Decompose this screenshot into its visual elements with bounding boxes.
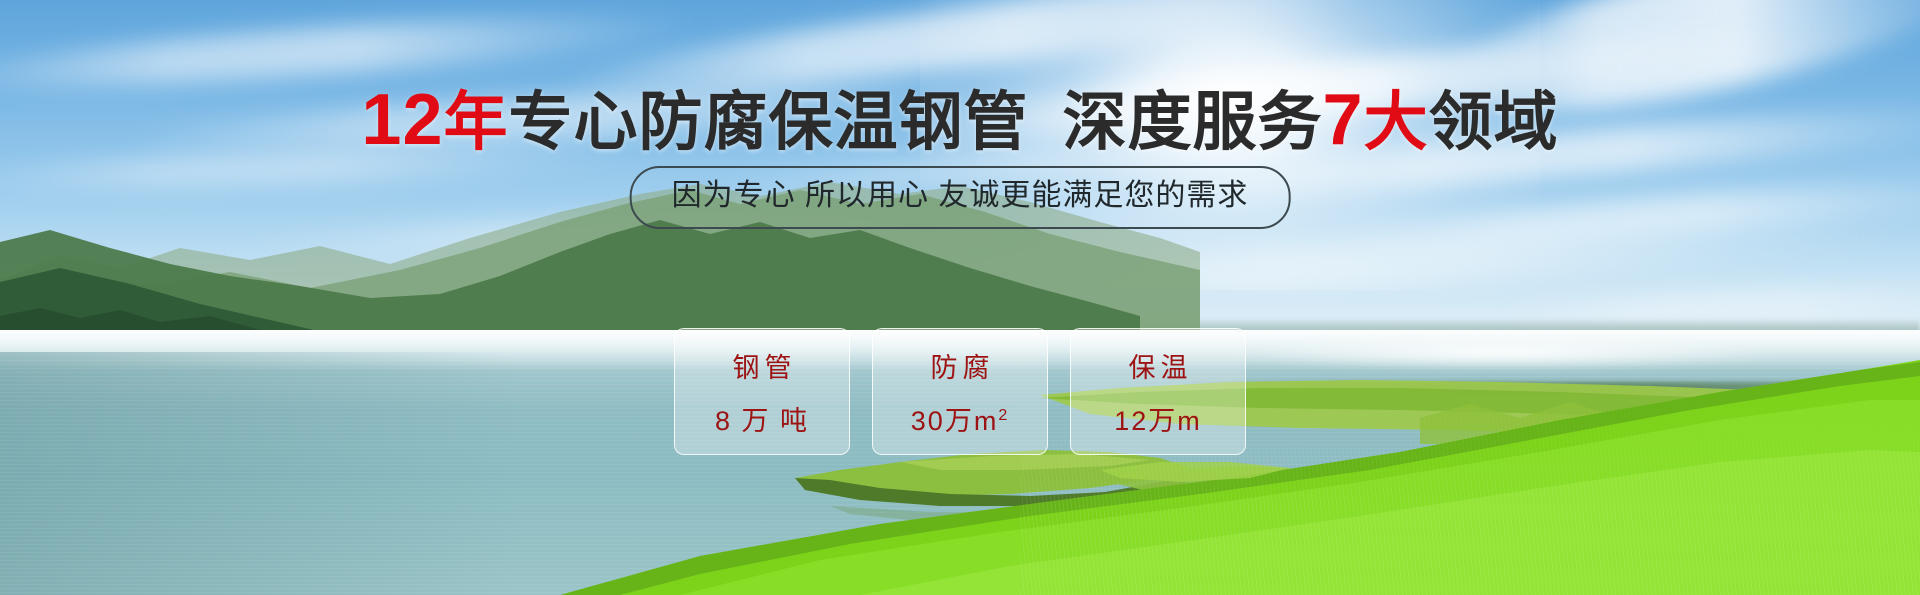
stat-card-value: 30万m2	[911, 399, 1009, 438]
headline-fields-measure: 大	[1364, 86, 1429, 158]
headline-fields-suffix: 领域	[1429, 86, 1559, 158]
stat-card-value: 12万m	[1114, 399, 1202, 438]
hero-banner: 12年专心防腐保温钢管深度服务7大领域 因为专心 所以用心 友诚更能满足您的需求…	[0, 0, 1920, 595]
headline-years-unit: 年	[444, 86, 509, 158]
stat-card-label: 防腐	[926, 346, 995, 385]
stat-card-label: 保温	[1124, 346, 1193, 385]
stat-card-value-main: 12万m	[1114, 406, 1202, 436]
headline-service-text: 深度服务	[1063, 86, 1323, 158]
headline-fields-number: 7	[1323, 80, 1364, 160]
far-shore-strip	[1180, 382, 1920, 398]
stat-card-steel-pipe[interactable]: 钢管 8 万 吨	[674, 328, 850, 455]
stat-card-label: 钢管	[728, 346, 797, 385]
water-sun-glint	[1220, 336, 1780, 370]
stat-card-value-superscript: 2	[998, 407, 1009, 424]
stat-card-value-main: 30万m	[911, 406, 999, 436]
headline-main-text: 专心防腐保温钢管	[509, 86, 1029, 158]
stat-card-group: 钢管 8 万 吨 防腐 30万m2 保温 12万m	[674, 328, 1246, 455]
stat-card-value: 8 万 吨	[715, 399, 809, 438]
banner-subtitle-pill: 因为专心 所以用心 友诚更能满足您的需求	[630, 166, 1291, 229]
stat-card-anticorrosion[interactable]: 防腐 30万m2	[872, 328, 1048, 455]
headline-years-number: 12	[361, 80, 443, 160]
banner-headline: 12年专心防腐保温钢管深度服务7大领域	[0, 84, 1920, 156]
stat-card-value-main: 8 万 吨	[715, 406, 809, 436]
stat-card-insulation[interactable]: 保温 12万m	[1070, 328, 1246, 455]
